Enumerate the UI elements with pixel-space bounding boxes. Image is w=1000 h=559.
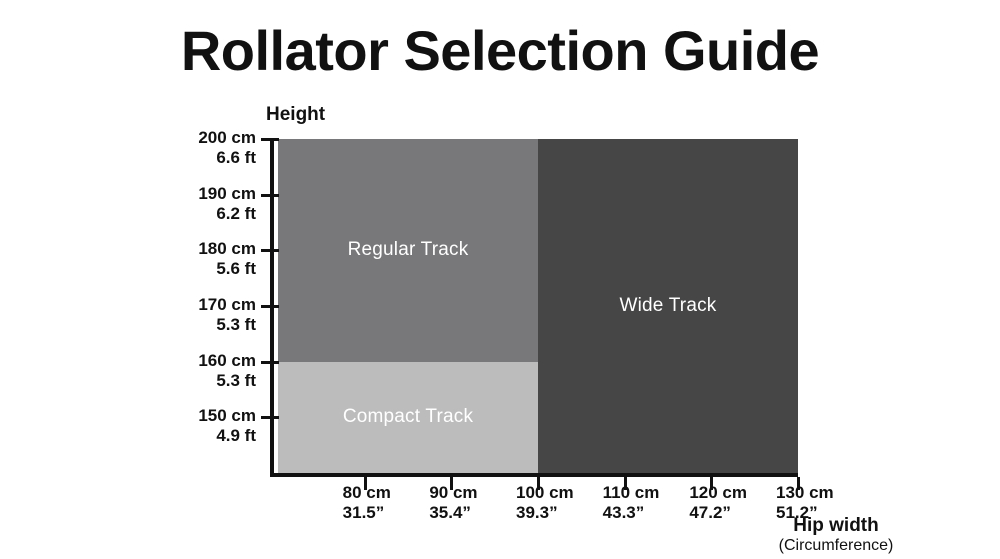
- y-axis-tick-labels: 200 cm6.6 ft190 cm6.2 ft180 cm5.6 ft170 …: [90, 0, 256, 559]
- y-axis-tick-label: 160 cm5.3 ft: [96, 351, 256, 391]
- y-tick-label-ft: 5.3 ft: [96, 315, 256, 335]
- x-axis-title-sub: (Circumference): [686, 536, 986, 555]
- x-tick-label-cm: 120 cm: [689, 483, 747, 502]
- y-tick-label-cm: 150 cm: [198, 406, 256, 425]
- region-wide-track: Wide Track: [538, 139, 798, 473]
- y-axis-tick-label: 150 cm4.9 ft: [96, 406, 256, 446]
- region-regular-track: Regular Track: [278, 139, 538, 362]
- y-axis-tick-label: 170 cm5.3 ft: [96, 295, 256, 335]
- y-axis-tick: [261, 194, 279, 197]
- y-tick-label-ft: 6.6 ft: [96, 148, 256, 168]
- y-axis-tick-label: 180 cm5.6 ft: [96, 239, 256, 279]
- y-tick-label-ft: 5.3 ft: [96, 371, 256, 391]
- region-regular-track-label: Regular Track: [348, 239, 469, 261]
- y-axis-tick: [261, 416, 279, 419]
- region-compact-track: Compact Track: [278, 362, 538, 473]
- x-axis-title-main: Hip width: [686, 515, 986, 536]
- y-tick-label-ft: 6.2 ft: [96, 204, 256, 224]
- y-tick-label-cm: 200 cm: [198, 128, 256, 147]
- y-tick-label-cm: 180 cm: [198, 239, 256, 258]
- y-axis-tick: [261, 305, 279, 308]
- region-wide-track-label: Wide Track: [619, 295, 716, 317]
- y-axis-tick: [261, 138, 279, 141]
- y-tick-label-ft: 4.9 ft: [96, 426, 256, 446]
- y-axis-tick: [261, 361, 279, 364]
- y-tick-label-cm: 170 cm: [198, 295, 256, 314]
- x-axis-line: [270, 473, 798, 477]
- plot-area: Regular Track Compact Track Wide Track: [278, 139, 798, 473]
- x-axis-title: Hip width (Circumference): [686, 515, 986, 555]
- y-axis-title: Height: [266, 104, 325, 126]
- x-tick-label-cm: 80 cm: [343, 483, 391, 502]
- y-tick-label-cm: 190 cm: [198, 184, 256, 203]
- x-tick-label-cm: 110 cm: [603, 483, 660, 502]
- x-tick-label-cm: 100 cm: [516, 483, 574, 502]
- x-tick-label-cm: 130 cm: [776, 483, 834, 502]
- y-axis-tick-label: 200 cm6.6 ft: [96, 128, 256, 168]
- y-axis-line: [270, 139, 274, 477]
- y-axis-tick-label: 190 cm6.2 ft: [96, 184, 256, 224]
- y-tick-label-ft: 5.6 ft: [96, 259, 256, 279]
- y-axis-tick: [261, 249, 279, 252]
- region-compact-track-label: Compact Track: [343, 406, 473, 428]
- y-tick-label-cm: 160 cm: [198, 351, 256, 370]
- x-tick-label-cm: 90 cm: [429, 483, 477, 502]
